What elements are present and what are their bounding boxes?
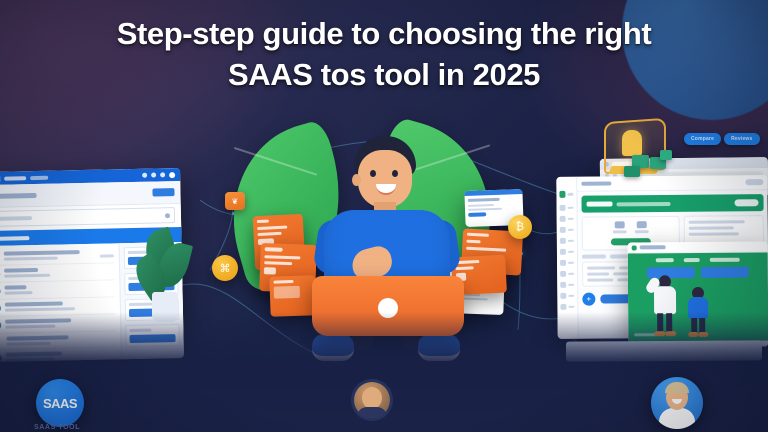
headline-line-1: Step-step guide to choosing the right — [117, 16, 652, 51]
headline-line-2: SAAS tos tool in 2025 — [40, 55, 728, 96]
banner-canvas: + — [0, 0, 768, 432]
page-title: Step-step guide to choosing the right SA… — [0, 14, 768, 96]
